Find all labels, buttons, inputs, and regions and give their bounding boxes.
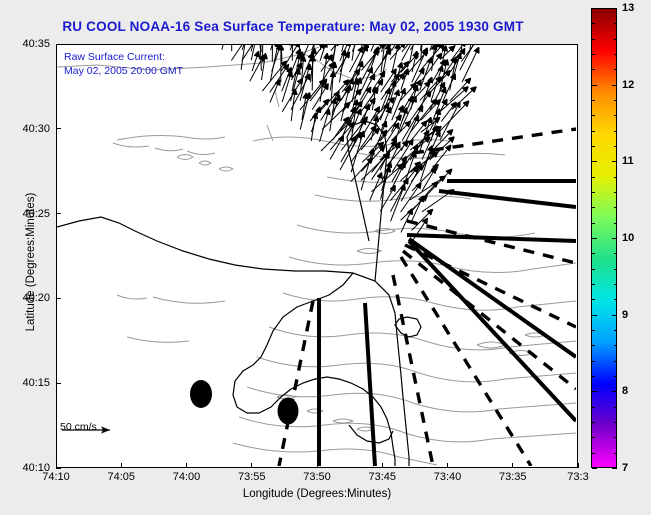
colorbar-tick	[592, 85, 597, 86]
radar-station-markers	[190, 380, 299, 425]
colorbar-minor-tick	[614, 253, 617, 254]
figure-root: RU COOL NOAA-16 Sea Surface Temperature:…	[0, 0, 651, 515]
y-axis-label: Latitude (Degrees:Minutes)	[25, 162, 37, 362]
scale-key: 50 cm/s	[60, 421, 97, 433]
colorbar-minor-tick	[592, 299, 595, 300]
colorbar-minor-tick	[614, 330, 617, 331]
colorbar-minor-tick	[592, 269, 595, 270]
y-tick	[56, 468, 61, 469]
colorbar-tick	[592, 8, 597, 9]
colorbar-tick-label: 7	[622, 462, 628, 474]
x-tick	[251, 463, 252, 468]
colorbar-minor-tick	[592, 115, 595, 116]
colorbar-minor-tick	[592, 453, 595, 454]
y-tick-label: 40:15	[8, 377, 50, 389]
colorbar-tick-label: 10	[622, 232, 634, 244]
x-tick-label: 74:05	[107, 471, 135, 483]
figure-title: RU COOL NOAA-16 Sea Surface Temperature:…	[0, 19, 586, 34]
colorbar-minor-tick	[614, 131, 617, 132]
colorbar-tick	[612, 161, 617, 162]
x-tick	[317, 463, 318, 468]
annotation-line-2: May 02, 2005 20:00 GMT	[64, 65, 183, 79]
colorbar-minor-tick	[592, 177, 595, 178]
colorbar-minor-tick	[614, 69, 617, 70]
colorbar-minor-tick	[614, 207, 617, 208]
colorbar-minor-tick	[614, 223, 617, 224]
colorbar-tick	[612, 468, 617, 469]
colorbar-minor-tick	[592, 407, 595, 408]
colorbar-minor-tick	[592, 422, 595, 423]
colorbar-minor-tick	[614, 54, 617, 55]
colorbar-tick	[592, 238, 597, 239]
colorbar-minor-tick	[592, 131, 595, 132]
colorbar-minor-tick	[592, 192, 595, 193]
x-tick-label: 73:3	[567, 471, 588, 483]
colorbar-minor-tick	[614, 100, 617, 101]
colorbar-minor-tick	[614, 299, 617, 300]
colorbar-minor-tick	[592, 223, 595, 224]
colorbar-minor-tick	[614, 345, 617, 346]
colorbar-minor-tick	[614, 192, 617, 193]
x-tick-label: 73:55	[238, 471, 266, 483]
colorbar-minor-tick	[592, 253, 595, 254]
colorbar-minor-tick	[614, 422, 617, 423]
x-tick	[512, 463, 513, 468]
y-tick	[56, 44, 61, 45]
y-tick	[56, 383, 61, 384]
x-tick-label: 73:45	[368, 471, 396, 483]
colorbar-tick-label: 13	[622, 2, 634, 14]
colorbar-tick	[612, 85, 617, 86]
colorbar-tick	[612, 391, 617, 392]
colorbar-tick	[592, 391, 597, 392]
colorbar-minor-tick	[592, 100, 595, 101]
plot-area: Raw Surface Current: May 02, 2005 20:00 …	[56, 44, 578, 468]
current-annotation: Raw Surface Current: May 02, 2005 20:00 …	[64, 51, 183, 78]
x-tick	[447, 463, 448, 468]
surface-current-vectors	[222, 45, 480, 241]
colorbar-minor-tick	[614, 115, 617, 116]
colorbar-minor-tick	[592, 54, 595, 55]
y-tick-label: 40:35	[8, 38, 50, 50]
scale-key-arrow-icon	[60, 423, 120, 437]
y-tick	[56, 128, 61, 129]
x-tick-label: 74:00	[173, 471, 201, 483]
colorbar-tick	[592, 315, 597, 316]
map-layers	[57, 45, 576, 466]
colorbar-minor-tick	[592, 330, 595, 331]
colorbar-minor-tick	[614, 177, 617, 178]
colorbar-tick-label: 12	[622, 79, 634, 91]
colorbar-minor-tick	[592, 39, 595, 40]
y-tick	[56, 298, 61, 299]
colorbar-minor-tick	[614, 269, 617, 270]
colorbar-minor-tick	[592, 284, 595, 285]
colorbar-minor-tick	[614, 146, 617, 147]
x-tick	[578, 463, 579, 468]
colorbar-minor-tick	[592, 69, 595, 70]
colorbar-minor-tick	[592, 437, 595, 438]
y-tick-label: 40:10	[8, 462, 50, 474]
colorbar-tick	[612, 315, 617, 316]
colorbar-minor-tick	[614, 453, 617, 454]
colorbar-tick-label: 8	[622, 385, 628, 397]
annotation-line-1: Raw Surface Current:	[64, 51, 183, 65]
colorbar-minor-tick	[592, 361, 595, 362]
colorbar-minor-tick	[592, 207, 595, 208]
colorbar-tick-label: 9	[622, 309, 628, 321]
x-tick	[121, 463, 122, 468]
colorbar-minor-tick	[614, 39, 617, 40]
colorbar-minor-tick	[592, 146, 595, 147]
colorbar-minor-tick	[614, 361, 617, 362]
colorbar-tick	[592, 161, 597, 162]
colorbar-minor-tick	[592, 23, 595, 24]
y-tick-label: 40:30	[8, 123, 50, 135]
colorbar-minor-tick	[592, 345, 595, 346]
x-tick-label: 73:40	[434, 471, 462, 483]
colorbar-tick-label: 11	[622, 155, 634, 167]
sst-contour-lines	[57, 47, 576, 465]
colorbar-minor-tick	[614, 376, 617, 377]
x-axis-label: Longitude (Degrees:Minutes)	[56, 488, 578, 500]
x-tick-label: 73:50	[303, 471, 331, 483]
x-tick-label: 73:35	[499, 471, 527, 483]
colorbar-minor-tick	[614, 407, 617, 408]
colorbar-tick	[612, 238, 617, 239]
colorbar-tick	[592, 468, 597, 469]
colorbar-minor-tick	[614, 437, 617, 438]
colorbar-minor-tick	[592, 376, 595, 377]
y-tick	[56, 213, 61, 214]
colorbar-tick	[612, 8, 617, 9]
colorbar-minor-tick	[614, 284, 617, 285]
colorbar-minor-tick	[614, 23, 617, 24]
x-tick	[382, 463, 383, 468]
x-tick	[186, 463, 187, 468]
